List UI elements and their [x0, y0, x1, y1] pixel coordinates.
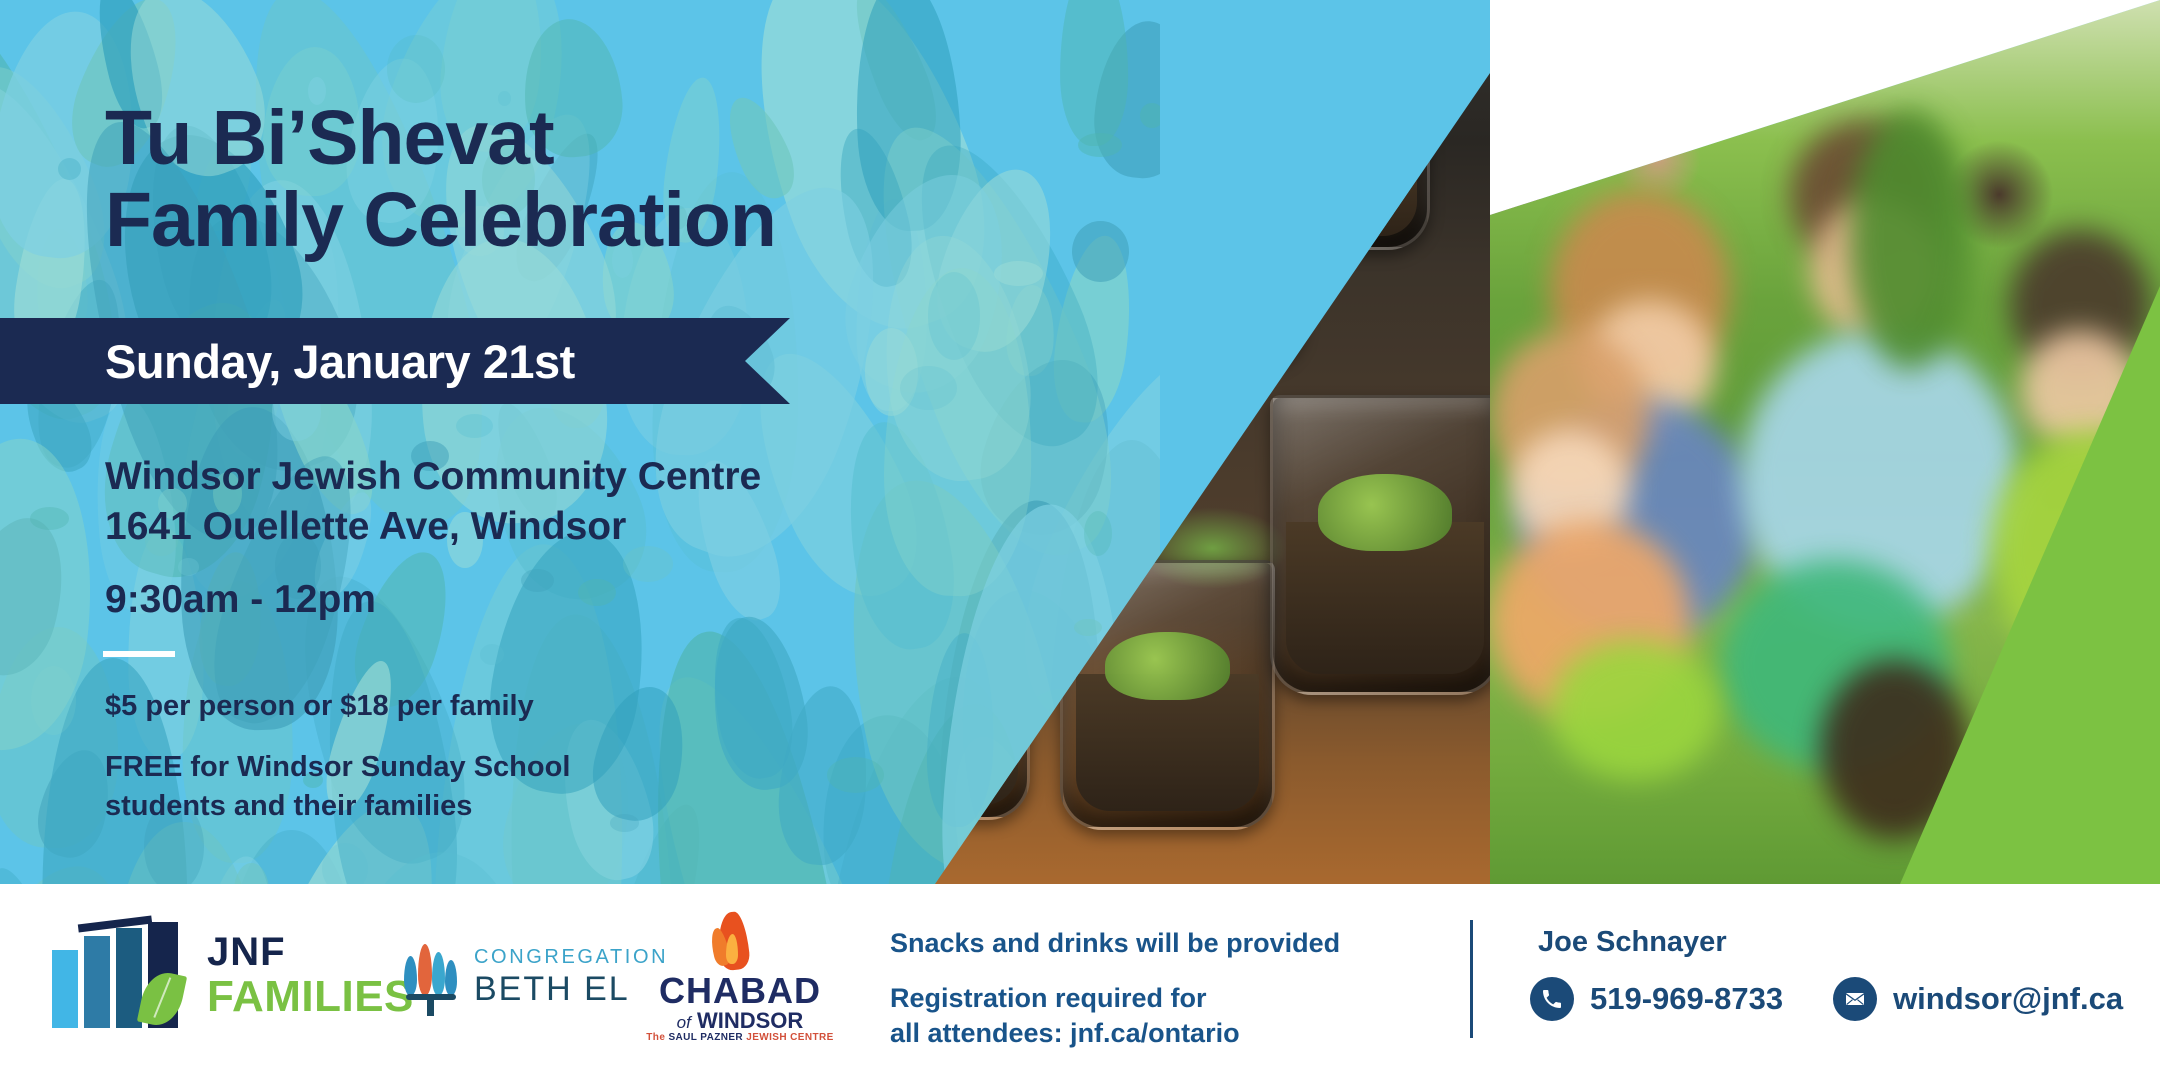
divider-rule: [103, 651, 175, 657]
jar-sprout: [1105, 632, 1230, 701]
leaf-accent: [1140, 103, 1160, 128]
email-address: windsor@jnf.ca: [1893, 981, 2123, 1017]
mason-jar: [1270, 395, 1500, 695]
leaf-shape: [1059, 0, 1128, 146]
page-title: Tu Bi’Shevat Family Celebration: [105, 98, 1005, 261]
free-admission-note: FREE for Windsor Sunday School students …: [105, 748, 1005, 827]
chabad-subtitle: The SAUL PAZNER JEWISH CENTRE: [640, 1032, 840, 1043]
title-line-1: Tu Bi’Shevat: [105, 95, 554, 181]
registration-line-2: all attendees: jnf.ca/ontario: [890, 1016, 1430, 1051]
envelope-icon: [1833, 977, 1877, 1021]
leaf-accent: [58, 158, 81, 180]
jnf-wordmark: JNF: [207, 930, 286, 975]
chabad-sub-name: SAUL PAZNER: [668, 1032, 746, 1043]
venue-block: Windsor Jewish Community Centre 1641 Oue…: [105, 452, 1005, 552]
leaf-icon: [137, 968, 187, 1029]
date-text: Sunday, January 21st: [0, 334, 575, 389]
venue-address: 1641 Ouellette Ave, Windsor: [105, 502, 1005, 552]
price-text: $5 per person or $18 per family: [105, 690, 1005, 723]
leaf-accent: [521, 569, 554, 593]
contact-name: Joe Schnayer: [1530, 926, 2123, 959]
jar-sprout: [1318, 474, 1452, 550]
email-item[interactable]: windsor@jnf.ca: [1833, 977, 2123, 1021]
contact-row: 519-969-8733 windsor@jnf.ca: [1530, 977, 2123, 1021]
footer-notes: Snacks and drinks will be provided Regis…: [890, 928, 1430, 1051]
flyer-canvas: Tu Bi’Shevat Family Celebration Sunday, …: [0, 0, 2160, 1080]
phone-number: 519-969-8733: [1590, 981, 1783, 1017]
chabad-sub-centre: JEWISH CENTRE: [746, 1032, 833, 1043]
contact-block: Joe Schnayer 519-969-8733 windsor@jnf.ca: [1530, 926, 2123, 1021]
hero-section: Tu Bi’Shevat Family Celebration Sunday, …: [0, 0, 2160, 884]
families-wordmark: FAMILIES: [207, 972, 414, 1022]
jnf-bars-icon: [52, 920, 192, 1028]
jnf-bar-2: [84, 936, 110, 1028]
footer-divider: [1470, 920, 1473, 1038]
venue-name: Windsor Jewish Community Centre: [105, 452, 1005, 502]
chabad-flame-icon: [702, 912, 766, 974]
title-line-2: Family Celebration: [105, 180, 1005, 262]
chabad-wordmark: CHABAD: [640, 970, 840, 1012]
chabad-sub-the: The: [646, 1032, 668, 1043]
snacks-note: Snacks and drinks will be provided: [890, 928, 1430, 959]
footer-section: JNF FAMILIES CONGREGATION BETH EL: [0, 884, 2160, 1080]
watering-can: [1550, 640, 1720, 780]
menorah-flame-icon: [400, 942, 462, 1016]
leaf-accent: [387, 35, 445, 103]
date-banner: Sunday, January 21st: [0, 318, 790, 404]
leaf-accent: [994, 261, 1043, 286]
leaf-accent: [1072, 221, 1128, 282]
phone-icon: [1530, 977, 1574, 1021]
free-line-1: FREE for Windsor Sunday School: [105, 748, 1005, 787]
free-line-2: students and their families: [105, 787, 1005, 826]
congregation-beth-el-logo: CONGREGATION BETH EL: [400, 936, 650, 1024]
registration-note: Registration required for all attendees:…: [890, 981, 1430, 1051]
jnf-families-logo: JNF FAMILIES: [52, 914, 362, 1032]
leaf-accent: [900, 366, 957, 411]
leaf-accent: [31, 666, 76, 735]
event-time: 9:30am - 12pm: [105, 578, 376, 622]
leaf-accent: [1078, 133, 1122, 157]
chabad-city-word: WINDSOR: [697, 1008, 803, 1033]
phone-item[interactable]: 519-969-8733: [1530, 977, 1783, 1021]
chabad-of-city: of WINDSOR: [640, 1008, 840, 1034]
leaf-accent: [30, 507, 69, 530]
chabad-of-windsor-logo: CHABAD of WINDSOR The SAUL PAZNER JEWISH…: [640, 912, 840, 1042]
registration-line-1: Registration required for: [890, 981, 1430, 1016]
chabad-of-word: of: [677, 1013, 691, 1032]
leaf-accent: [178, 558, 200, 576]
leaf-accent: [928, 272, 980, 359]
beth-el-name-label: BETH EL: [474, 970, 630, 1009]
sapling-tree: [1850, 110, 1970, 370]
jnf-bar-1: [52, 950, 78, 1028]
